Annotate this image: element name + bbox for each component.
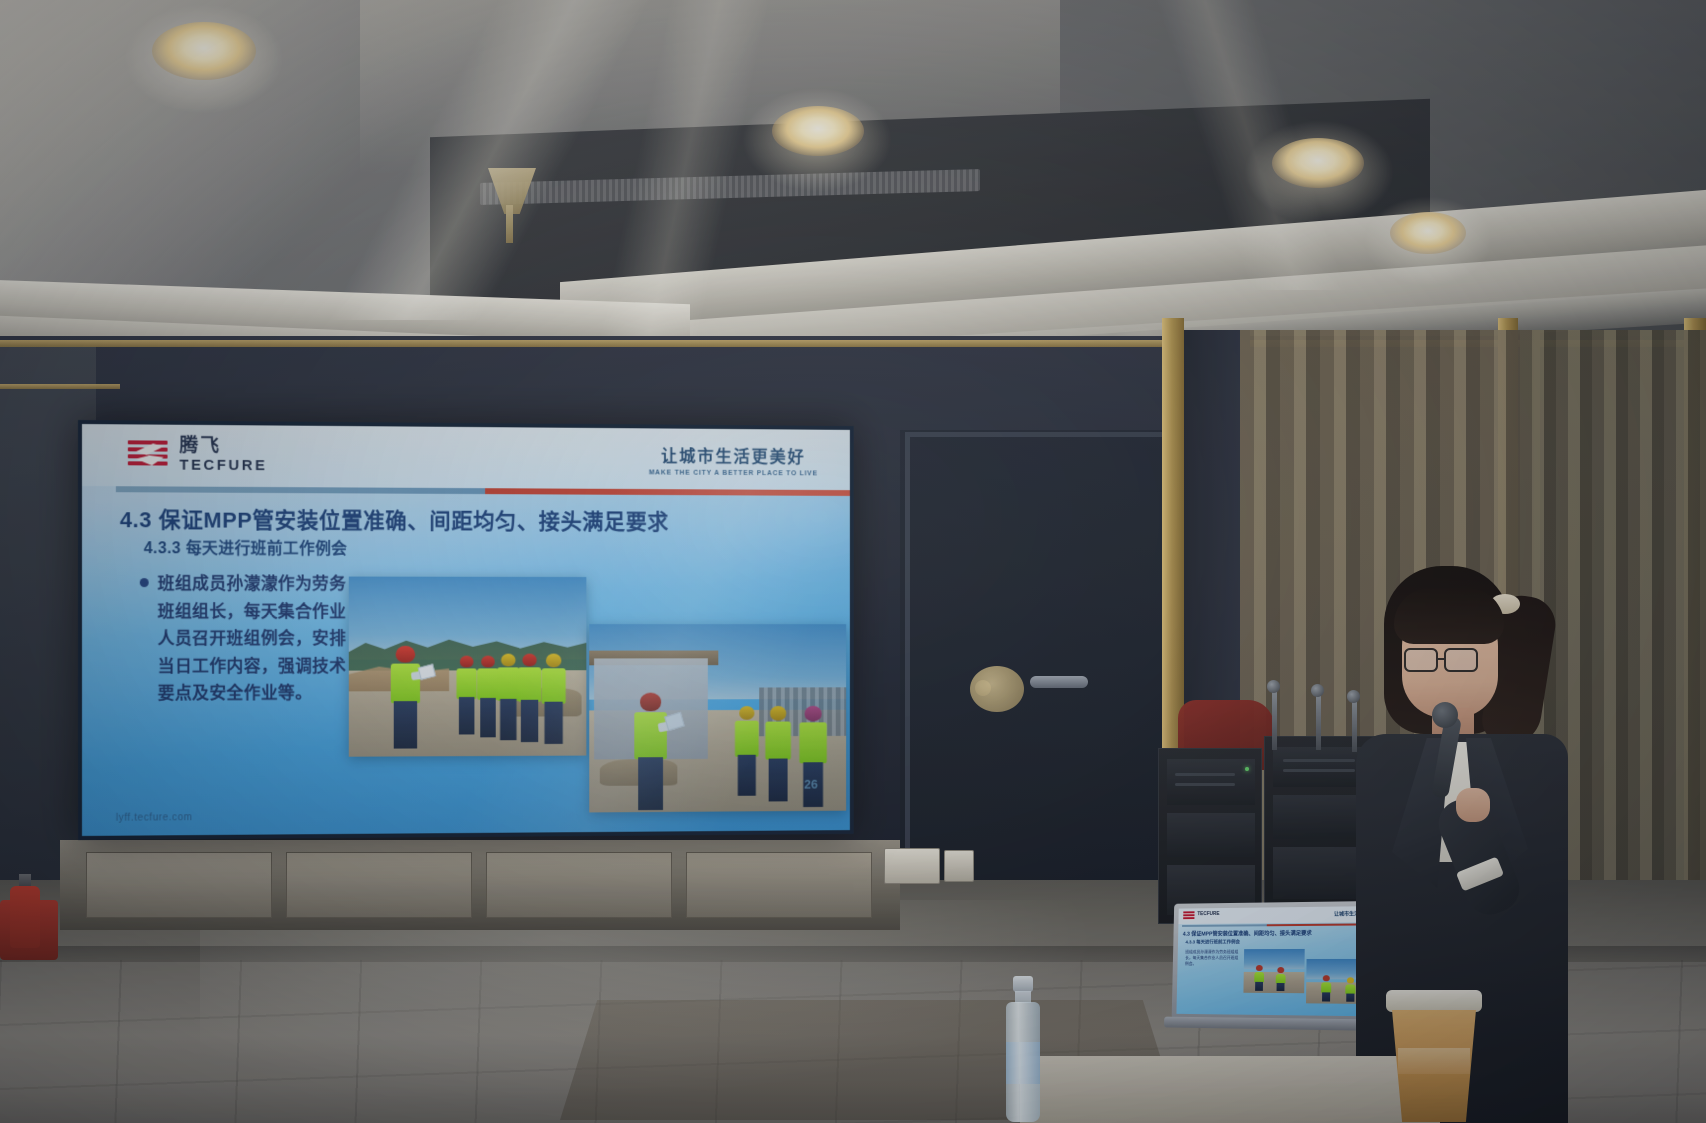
worker-vest [518, 667, 541, 701]
worker-vest [765, 722, 791, 760]
plinth-panel-1 [86, 852, 272, 918]
presenter-fringe [1394, 588, 1504, 644]
presentation-slide: 腾飞 TECFURE 让城市生活更美好 MAKE THE CITY A BETT… [82, 424, 850, 836]
plinth-panel-2 [286, 852, 472, 918]
monitor-photo-a [1243, 949, 1304, 993]
rack-power-led [1245, 767, 1249, 771]
wall-outlet-plate [884, 848, 940, 884]
worker-legs [1255, 982, 1263, 991]
floor-light-reflection [200, 900, 1100, 1100]
presenter-eyeglasses-right [1444, 648, 1478, 672]
wall-switch-plate[interactable] [944, 850, 974, 882]
conference-room-scene: 腾飞 TECFURE 让城市生活更美好 MAKE THE CITY A BETT… [0, 0, 1706, 1123]
bottle-cap [1013, 976, 1033, 992]
presenter-eyeglasses-bridge [1438, 658, 1446, 660]
worker-hardhat [481, 656, 495, 668]
bullet-text: 班组成员孙濛濛作为劳务班组组长，每天集合作业人员召开班组例会，安排当日工作内容，… [158, 570, 347, 707]
presenter-eyeglasses-left [1404, 648, 1438, 672]
worker-legs [769, 759, 788, 802]
worker-legs [1322, 992, 1330, 1001]
tagline-english: MAKE THE CITY A BETTER PLACE TO LIVE [649, 469, 818, 477]
worker-legs [394, 701, 417, 748]
cup-lid [1386, 990, 1482, 1012]
worker-hardhat-yellow [501, 654, 516, 667]
slide-page-number: 26 [804, 777, 818, 792]
tecfure-stripes-logo-icon [128, 438, 172, 470]
photo-worker-leader [630, 693, 672, 811]
worker-vest [799, 722, 826, 763]
desk-mic-capsule-1 [1267, 680, 1280, 693]
handheld-microphone-head [1432, 702, 1458, 728]
bottle-label [1006, 1042, 1040, 1084]
header-rule-blue [116, 486, 489, 494]
worker-hardhat-red [396, 646, 415, 663]
downlight-3 [1272, 138, 1364, 188]
downlight-1 [152, 22, 256, 80]
extinguisher-body [10, 886, 40, 948]
rack-unit [1167, 813, 1255, 857]
worker-vest [634, 712, 667, 759]
wall-decor-ornament [970, 666, 1024, 712]
pendant-stem [506, 205, 513, 243]
tagline-chinese: 让城市生活更美好 [649, 442, 818, 468]
worker-hardhat [1256, 965, 1263, 971]
worker-legs [738, 755, 756, 796]
brand-logo: 腾飞 TECFURE [128, 436, 268, 473]
plinth-panel-3 [486, 852, 672, 918]
worker-legs [480, 698, 495, 737]
worker-legs [521, 700, 538, 742]
presenter-hand [1456, 788, 1490, 822]
downlight-4 [1390, 212, 1466, 254]
cup-sleeve [1398, 1048, 1470, 1074]
slide-title: 4.3 保证MPP管安装位置准确、间距均匀、接头满足要求 [120, 502, 669, 536]
desk-mic-stand-2[interactable] [1316, 694, 1321, 750]
photo-worker [1253, 965, 1265, 991]
photo-worker-2 [763, 706, 793, 802]
worker-hardhat [1323, 975, 1330, 981]
worker-vest [542, 668, 566, 703]
paper-coffee-cup[interactable] [1390, 990, 1478, 1122]
header-rule-red [485, 488, 850, 496]
desk-mic-capsule-2 [1311, 684, 1324, 697]
worker-legs [545, 702, 563, 744]
rack-unit [1167, 759, 1255, 805]
desk-mic-stand-1[interactable] [1272, 690, 1277, 750]
worker-hardhat [1277, 967, 1284, 973]
worker-vest [391, 664, 420, 704]
photo-worker-leader [386, 646, 425, 749]
slide-bullet-item: 班组成员孙濛濛作为劳务班组组长，每天集合作业人员召开班组例会，安排当日工作内容，… [140, 570, 347, 707]
projection-screen[interactable]: 腾飞 TECFURE 让城市生活更美好 MAKE THE CITY A BETT… [78, 420, 854, 840]
worker-legs [1277, 983, 1285, 991]
rack-vent-slot [1175, 773, 1235, 776]
worker-vest [456, 668, 476, 699]
worker-hardhat-red [640, 693, 661, 712]
photo-worker [1320, 975, 1332, 1001]
monitor-logo-icon [1183, 911, 1194, 920]
monitor-slide-body: 班组成员孙濛濛作为劳务班组组长，每天集合作业人员召开班组例会。 [1185, 949, 1238, 967]
worker-hardhat-pink [805, 706, 822, 722]
monitor-logo-text: TECFURE [1197, 911, 1219, 917]
audio-equipment-cabinet-left[interactable] [1158, 748, 1262, 924]
monitor-slide-subtitle: 4.3.3 每天进行班前工作例会 [1185, 939, 1240, 945]
worker-hardhat [522, 654, 536, 667]
worker-legs [638, 757, 663, 810]
rack-vent-slot [1175, 783, 1235, 786]
monitor-slide-title: 4.3 保证MPP管安装位置准确、间距均匀、接头满足要求 [1183, 929, 1312, 938]
slide-subtitle: 4.3.3 每天进行班前工作例会 [144, 534, 348, 558]
slide-footer-url: lyff.tecfure.com [116, 812, 193, 824]
worker-hardhat-yellow [739, 706, 754, 720]
slide-photo-worksite-briefing-open-ground [349, 577, 587, 757]
plinth-panel-4 [686, 852, 872, 918]
brand-tagline: 让城市生活更美好 MAKE THE CITY A BETTER PLACE TO… [649, 442, 818, 477]
bullet-dot-icon [140, 578, 149, 587]
fire-extinguisher[interactable] [8, 874, 42, 948]
door-handle[interactable] [1030, 676, 1088, 688]
photo-worker-5 [539, 654, 568, 744]
worker-vest [735, 721, 759, 757]
worker-legs [459, 697, 475, 734]
worker-legs [500, 699, 516, 740]
downlight-2 [772, 106, 864, 156]
photo-worker-1 [733, 706, 761, 796]
wall-gold-trim-left [0, 384, 120, 389]
logo-english-name: TECFURE [179, 458, 267, 473]
logo-chinese-name: 腾飞 [179, 437, 267, 457]
worker-hardhat-yellow [770, 706, 786, 721]
worker-hardhat-yellow [546, 654, 561, 668]
foreground-table [1020, 1056, 1440, 1123]
worker-hardhat [460, 656, 474, 668]
photo-worker-3 [797, 706, 829, 807]
water-bottle[interactable] [1006, 976, 1040, 1122]
photo-worker [1275, 967, 1287, 991]
